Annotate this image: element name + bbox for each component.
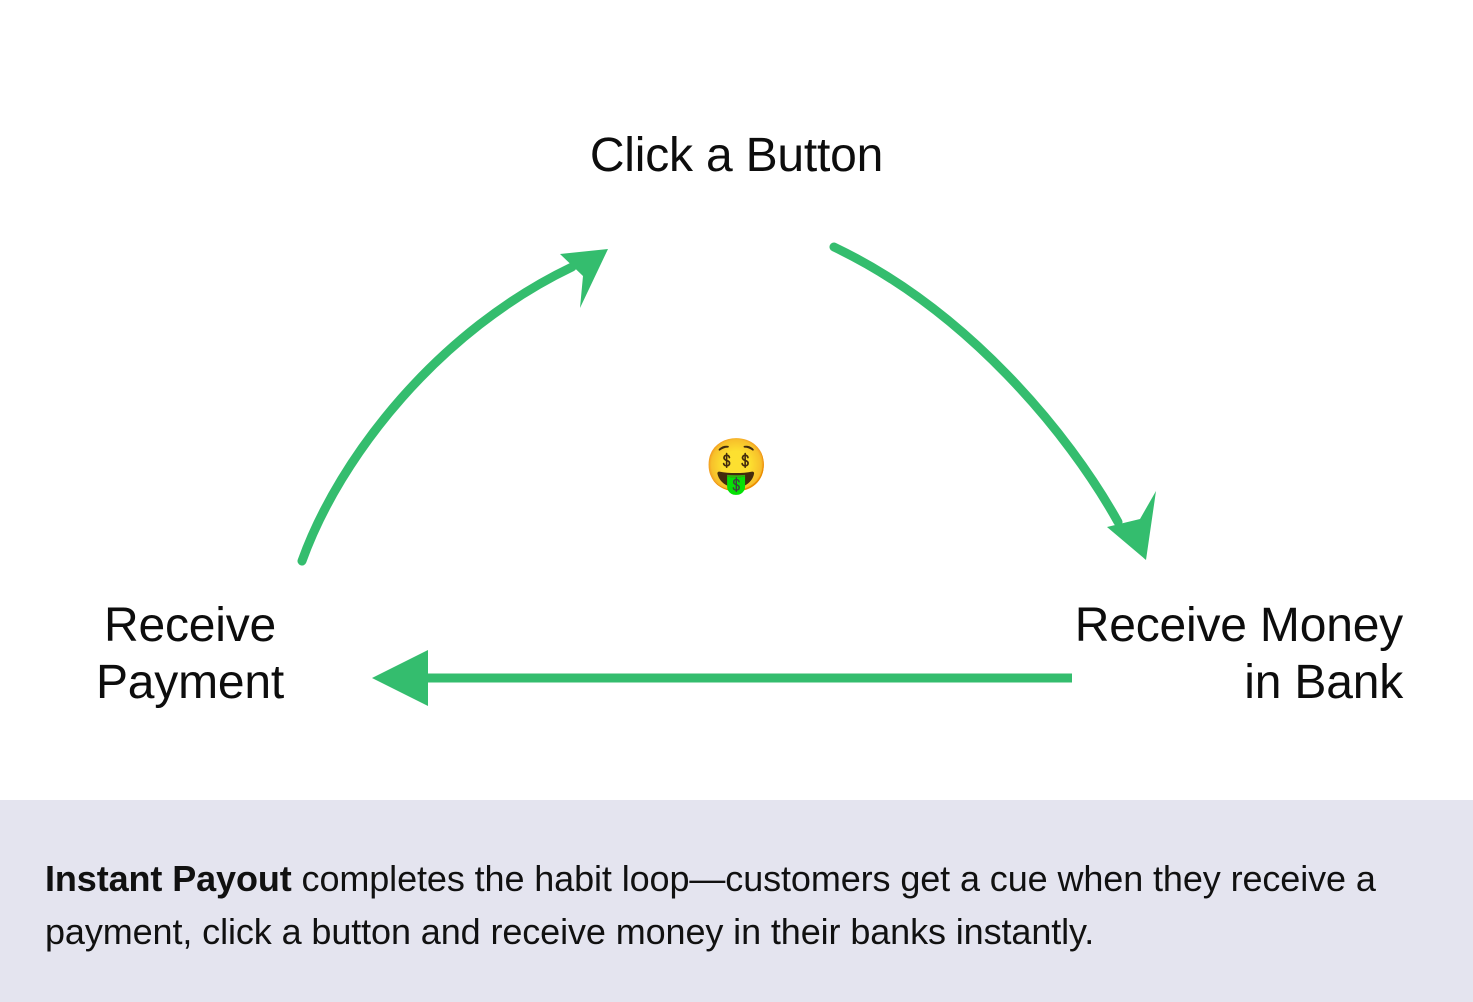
- edge-button-to-bank-arrowhead: [1107, 491, 1156, 560]
- money-mouth-face-emoji: 🤑: [0, 440, 1473, 492]
- node-click-a-button: Click a Button: [0, 128, 1473, 185]
- node-receive-payment: Receive Payment: [40, 598, 340, 711]
- caption-text: Instant Payout completes the habit loop—…: [45, 852, 1403, 959]
- edge-button-to-bank-arrow: [834, 247, 1156, 560]
- diagram-page: Click a Button Receive Payment Receive M…: [0, 0, 1473, 1002]
- habit-loop-diagram: Click a Button Receive Payment Receive M…: [0, 0, 1473, 800]
- edge-payment-to-button-arrowhead: [560, 249, 608, 308]
- edge-payment-to-button-arrow: [302, 249, 608, 561]
- node-receive-money-in-bank: Receive Money in Bank: [923, 598, 1403, 711]
- edge-bank-to-payment-arrowhead: [372, 650, 428, 706]
- caption-band: Instant Payout completes the habit loop—…: [0, 800, 1473, 1002]
- caption-lead: Instant Payout: [45, 858, 292, 899]
- edge-payment-to-button-curve: [302, 267, 572, 561]
